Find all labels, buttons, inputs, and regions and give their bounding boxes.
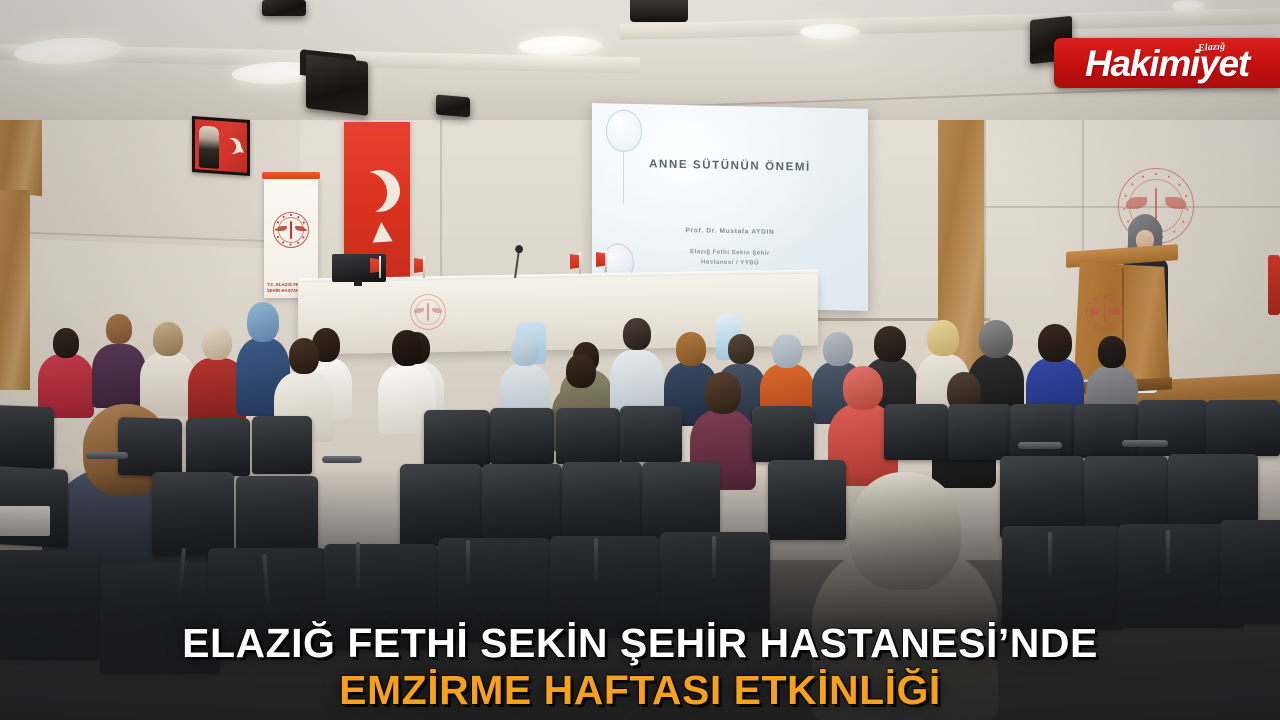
- chair-leg: [594, 538, 598, 582]
- chair-armrest: [322, 456, 362, 463]
- chair-leg: [1166, 530, 1170, 574]
- chair-leg: [466, 540, 470, 584]
- chair: [1138, 400, 1208, 456]
- chair: [1206, 400, 1280, 456]
- news-photo-screenshot: T.C. ELAZIĞ FETHİ SEKİN ŞEHİR HASTANESİ …: [0, 0, 1280, 720]
- chair: [186, 418, 250, 476]
- chair-leg: [712, 536, 716, 578]
- ceiling-light: [800, 24, 860, 40]
- left-upper-wall: [0, 108, 300, 250]
- projector: [630, 0, 688, 22]
- chair: [1010, 404, 1074, 458]
- attendee: [92, 314, 146, 410]
- chair: [252, 416, 312, 474]
- chair-leg: [1048, 532, 1052, 576]
- ceiling-speaker: [262, 0, 306, 16]
- ceiling-light: [1172, 0, 1206, 12]
- ministry-of-health-emblem-icon: [273, 212, 309, 248]
- ataturk-figure: [199, 125, 219, 168]
- side-table: [0, 506, 50, 536]
- chair-armrest: [1122, 440, 1168, 447]
- desk-flag: [596, 252, 610, 272]
- ataturk-portrait-frame: [192, 116, 250, 176]
- chair: [768, 460, 846, 540]
- desk-flag: [570, 254, 584, 274]
- ceiling-speaker: [436, 95, 470, 118]
- chair-armrest: [86, 452, 128, 459]
- ceiling-speaker: [306, 54, 368, 116]
- chair: [118, 417, 182, 477]
- crescent-icon: [355, 167, 402, 214]
- logo-locality-text: Elazığ: [1197, 41, 1225, 54]
- chair: [556, 408, 620, 464]
- chair: [620, 406, 682, 462]
- chair: [1220, 520, 1280, 624]
- chair: [884, 404, 948, 460]
- chair: [152, 472, 234, 556]
- balloon-decoration-icon: [606, 109, 642, 152]
- attendee: [610, 318, 664, 418]
- chair: [424, 410, 490, 468]
- caption-line-1: ELAZIĞ FETHİ SEKİN ŞEHİR HASTANESİ’NDE: [0, 621, 1280, 665]
- chair-armrest: [1018, 442, 1062, 449]
- chair: [752, 406, 814, 462]
- chair: [948, 404, 1012, 460]
- desk-flag: [414, 258, 428, 278]
- chair-leg: [356, 542, 360, 588]
- chair: [1074, 404, 1140, 458]
- star-icon: [371, 221, 392, 242]
- chair: [562, 462, 642, 544]
- chair: [490, 408, 554, 464]
- star-icon: [236, 144, 244, 153]
- monitor-stand: [354, 280, 362, 286]
- rollup-banner-header: [262, 172, 320, 179]
- chair: [0, 405, 54, 469]
- chair: [482, 464, 562, 546]
- chair: [1002, 526, 1122, 630]
- caption-line-2: EMZİRME HAFTASI ETKİNLİĞİ: [0, 668, 1280, 712]
- hakimiyet-watermark-logo[interactable]: Hakimiyet Elazığ: [1054, 38, 1280, 88]
- caption-block: ELAZIĞ FETHİ SEKİN ŞEHİR HASTANESİ’NDE E…: [0, 621, 1280, 712]
- desk-flag: [370, 258, 384, 278]
- chair: [400, 464, 482, 546]
- conference-hall-photo: T.C. ELAZIĞ FETHİ SEKİN ŞEHİR HASTANESİ …: [0, 0, 1280, 720]
